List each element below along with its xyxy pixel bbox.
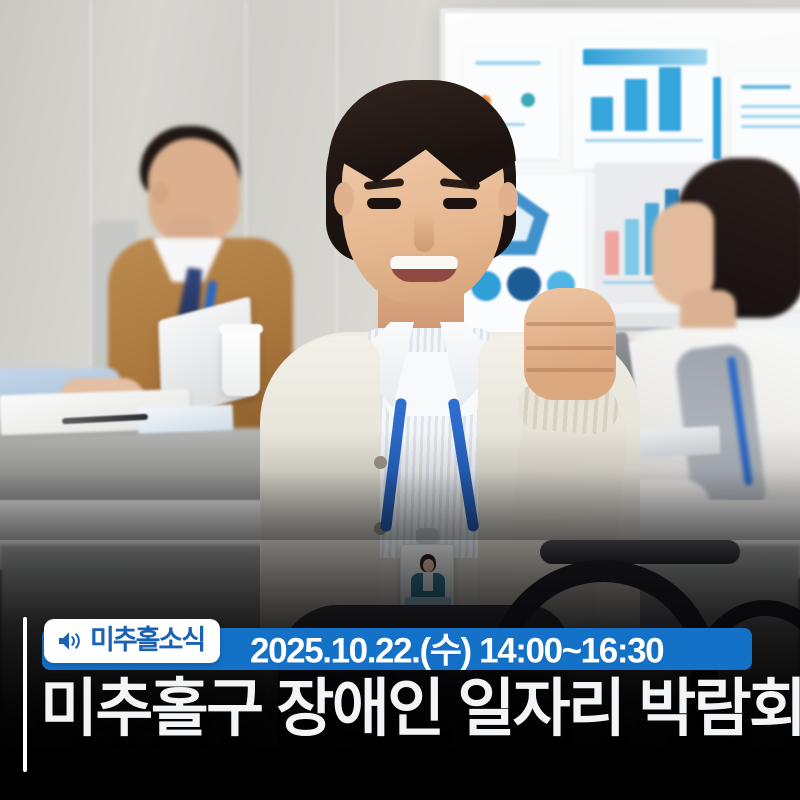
accent-rule xyxy=(23,617,27,772)
event-datetime: 2025.10.22.(수) 14:00~16:30 xyxy=(250,622,663,673)
speaker-icon xyxy=(57,629,83,653)
paper-cup xyxy=(222,328,260,396)
news-badge-label: 미추홀소식 xyxy=(90,627,204,656)
poster-headline: 미추홀구 장애인 일자리 박람회 xyxy=(40,676,785,742)
raised-fist xyxy=(524,288,616,400)
date-bar: 미추홀소식 2025.10.22.(수) 14:00~16:30 xyxy=(42,628,752,670)
poster-canvas: 미추홀소식 2025.10.22.(수) 14:00~16:30 미추홀구 장애… xyxy=(0,0,800,800)
caption-block: 미추홀소식 2025.10.22.(수) 14:00~16:30 미추홀구 장애… xyxy=(0,600,800,800)
news-badge[interactable]: 미추홀소식 xyxy=(44,619,220,663)
